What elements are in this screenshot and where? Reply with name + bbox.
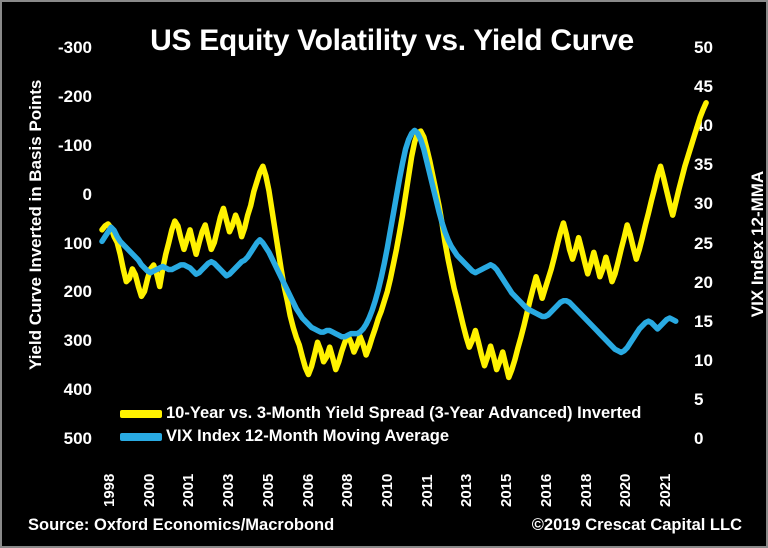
- chart-legend: 10-Year vs. 3-Month Yield Spread (3-Year…: [120, 402, 641, 448]
- legend-label-yield-spread: 10-Year vs. 3-Month Yield Spread (3-Year…: [166, 404, 641, 423]
- legend-swatch-vix: [120, 433, 162, 441]
- legend-label-vix: VIX Index 12-Month Moving Average: [166, 427, 449, 446]
- legend-item-yield-spread: 10-Year vs. 3-Month Yield Spread (3-Year…: [120, 402, 641, 425]
- chart-container: US Equity Volatility vs. Yield Curve Yie…: [0, 0, 768, 548]
- copyright-note: ©2019 Crescat Capital LLC: [532, 516, 742, 535]
- plot-area: [2, 2, 768, 548]
- legend-swatch-yield-spread: [120, 410, 162, 418]
- legend-item-vix: VIX Index 12-Month Moving Average: [120, 425, 641, 448]
- source-note: Source: Oxford Economics/Macrobond: [28, 516, 334, 535]
- series-yield-spread: [102, 103, 706, 378]
